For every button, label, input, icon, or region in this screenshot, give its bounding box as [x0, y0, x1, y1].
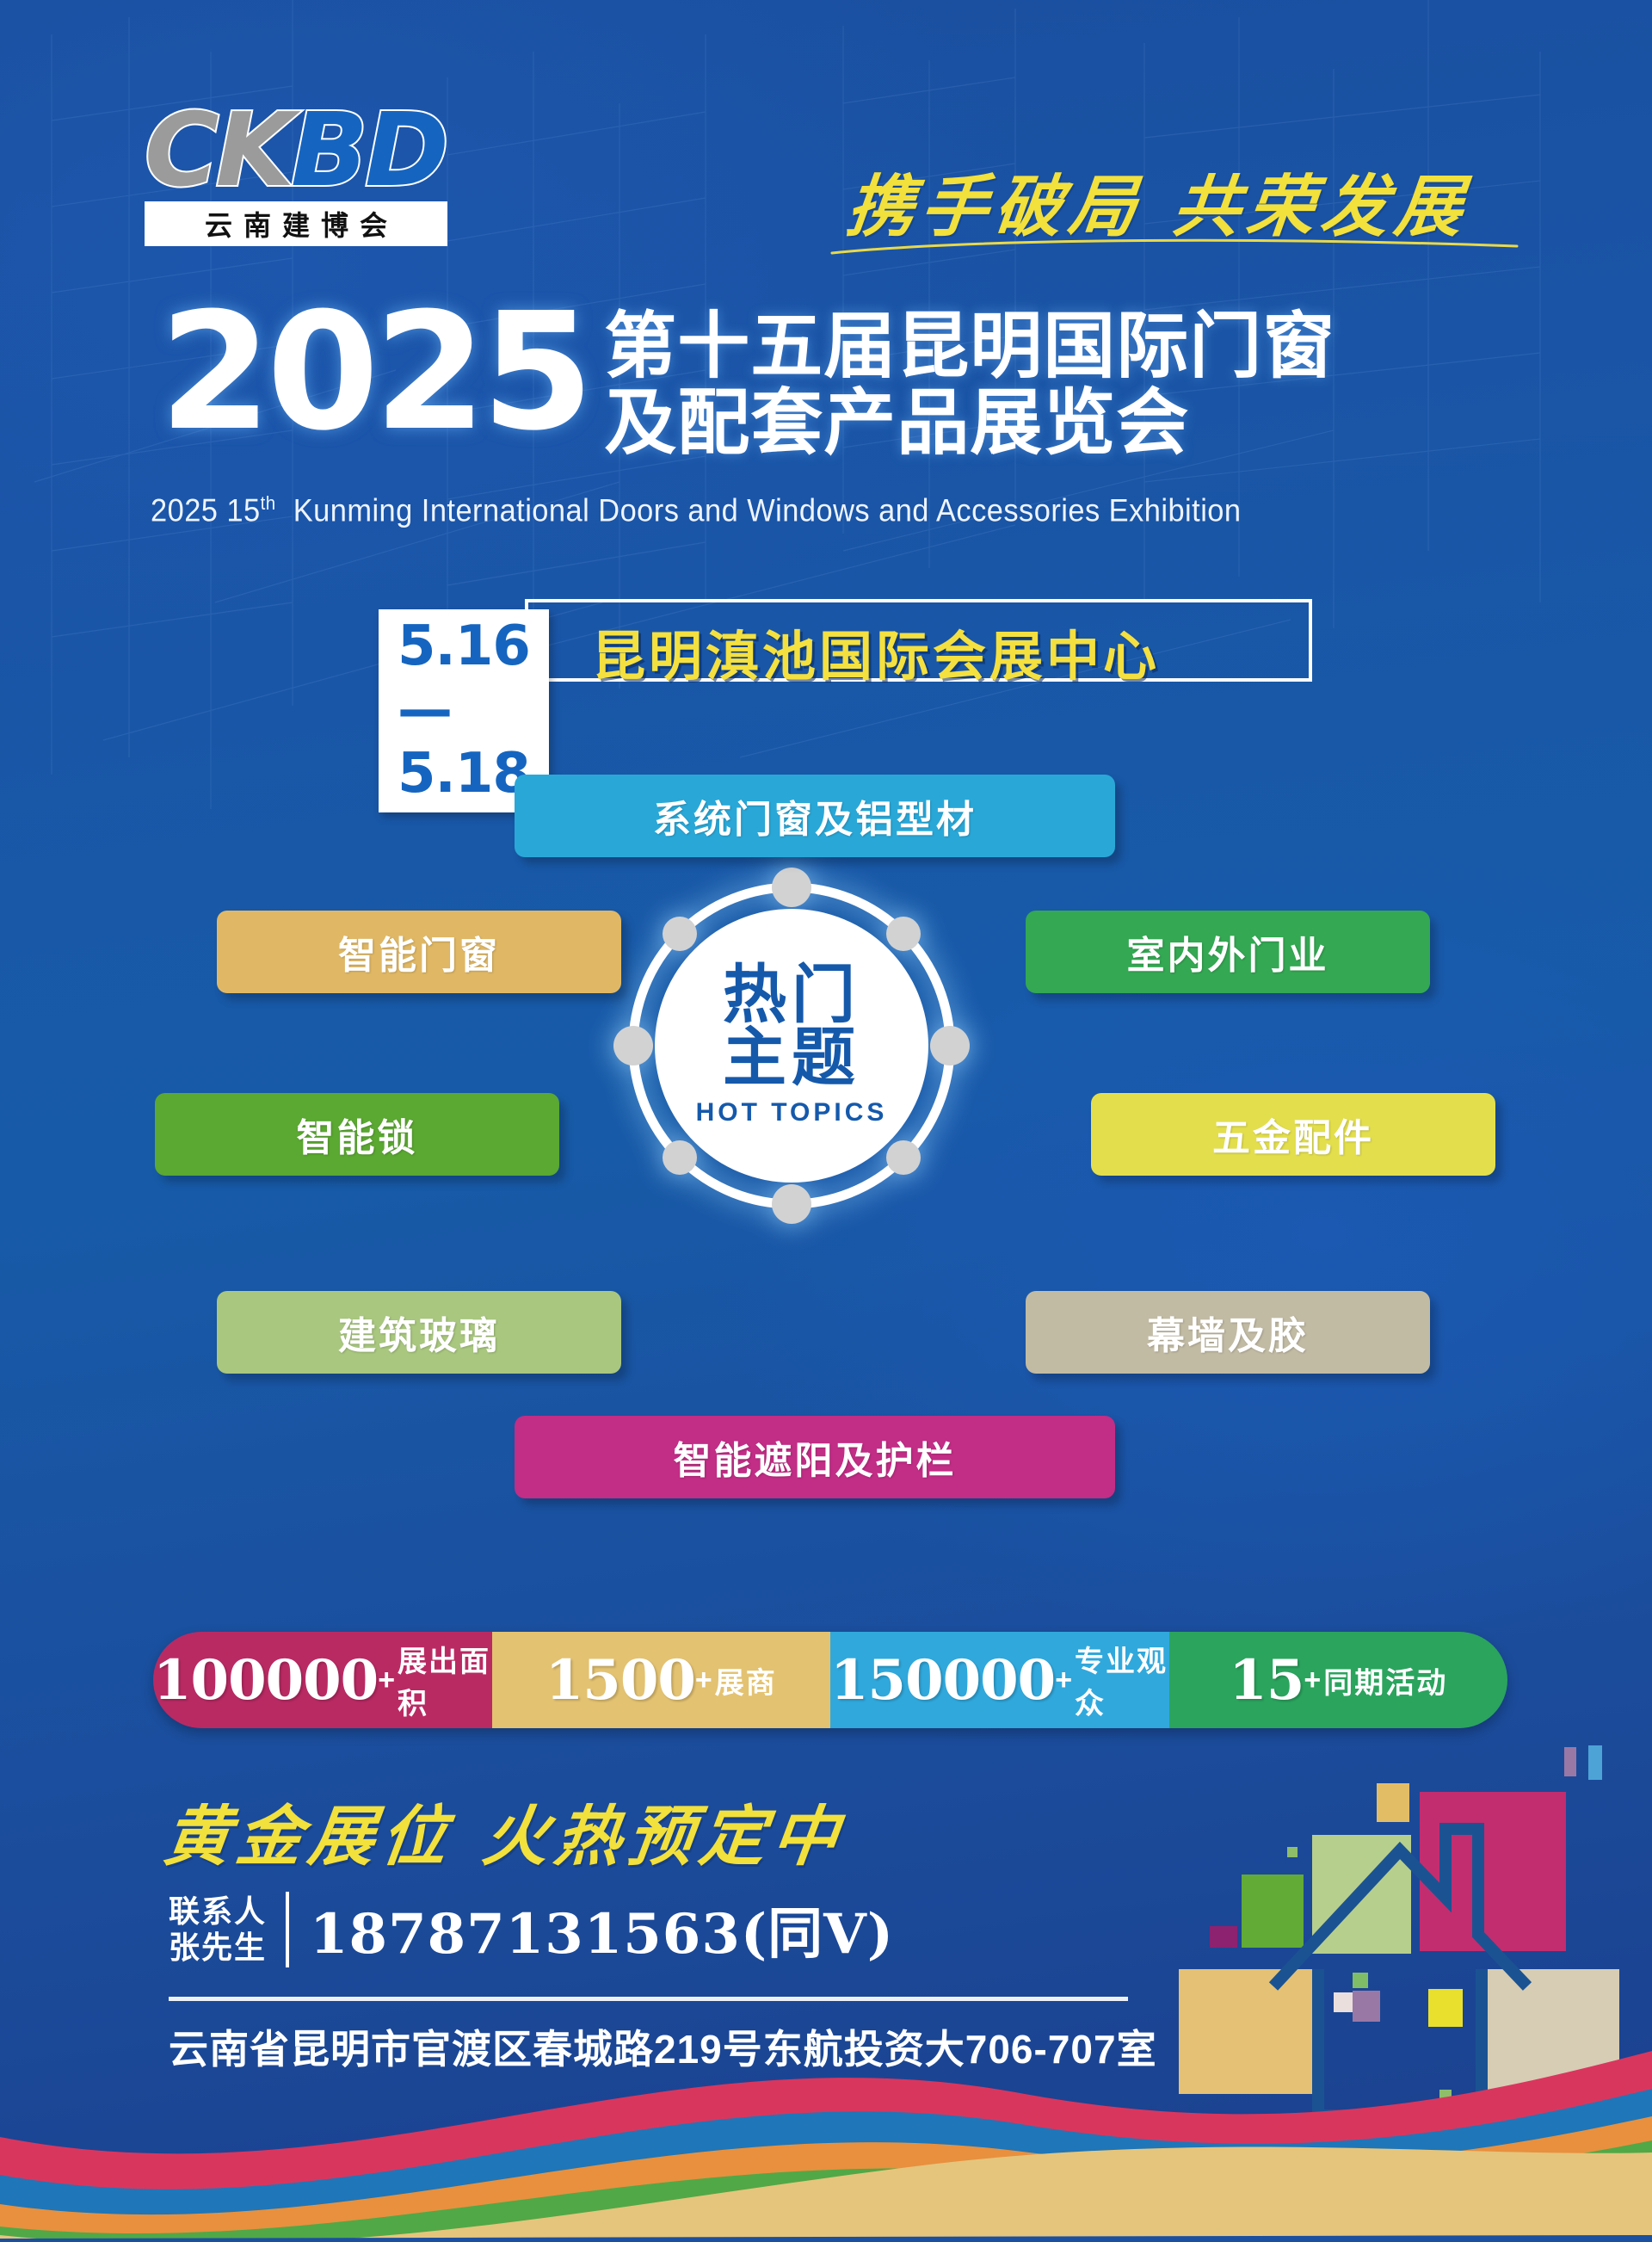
topic-pill-smart-shading-railings[interactable]: 智能遮阳及护栏: [515, 1416, 1115, 1498]
stat-label: 同期活动: [1323, 1659, 1447, 1702]
stat-label: 专业观众: [1075, 1638, 1168, 1722]
title-english: 2025 15th Kunming International Doors an…: [151, 492, 1242, 528]
title-en-rest: Kunming International Doors and Windows …: [293, 492, 1242, 528]
logo-ck-text: CK: [145, 90, 291, 209]
poster-canvas: CKBD 云南建博会 携手破局 共荣发展 2025 第十五届昆明国际门窗 及配套…: [0, 0, 1652, 2242]
stat-number: 1500: [546, 1648, 695, 1713]
stat-label: 展商: [715, 1659, 777, 1702]
stat-number: 100000: [153, 1648, 378, 1713]
title-en-ordinal: th: [261, 492, 276, 514]
contact-label-line2: 张先生: [169, 1930, 267, 1966]
title-en-prefix: 2025 15: [151, 492, 261, 528]
year-text: 2025: [159, 303, 589, 442]
stat-item: 150000+专业观众: [830, 1632, 1169, 1728]
stat-item: 15+同期活动: [1169, 1632, 1508, 1728]
stat-number: 15: [1229, 1648, 1304, 1713]
topic-pill-indoor-outdoor-doors[interactable]: 室内外门业: [1026, 911, 1430, 993]
tagline-swoosh: [830, 236, 1519, 258]
contact-label: 联系人 张先生: [169, 1893, 267, 1967]
topic-pill-architectural-glass[interactable]: 建筑玻璃: [217, 1291, 621, 1374]
ring-cn-line1: 热门: [723, 964, 860, 1027]
tagline-block: 携手破局 共荣发展: [848, 153, 1519, 250]
stat-item: 100000+展出面积: [153, 1632, 492, 1728]
wave-graphic: [0, 2044, 1652, 2242]
title-chinese: 第十五届昆明国际门窗 及配套产品展览会: [604, 308, 1335, 461]
hot-topics-section: 热门 主题 HOT TOPICS 系统门窗及铝型材 智能门窗 室内外门业 智能锁…: [0, 775, 1652, 1532]
topic-pill-curtain-wall-adhesive[interactable]: 幕墙及胶: [1026, 1291, 1430, 1374]
contact-phone[interactable]: 18787131563(同V): [310, 1890, 894, 1969]
stat-plus: +: [1055, 1664, 1072, 1697]
ring-cn-line2: 主题: [723, 1027, 860, 1090]
bottom-wave-decoration: [0, 2044, 1652, 2242]
stat-plus: +: [1304, 1664, 1321, 1697]
stat-number: 150000: [830, 1648, 1055, 1713]
contact-block: 联系人 张先生 18787131563(同V): [169, 1890, 894, 1969]
stat-item: 1500+展商: [492, 1632, 831, 1728]
topic-pill-hardware-accessories[interactable]: 五金配件: [1091, 1093, 1495, 1176]
venue-text: 昆明滇池国际会展中心: [592, 613, 1160, 690]
brand-logo: CKBD 云南建博会: [145, 103, 506, 246]
stat-label: 展出面积: [398, 1638, 491, 1722]
main-title: 2025 第十五届昆明国际门窗 及配套产品展览会: [159, 303, 1335, 461]
hot-topics-ring: 热门 主题 HOT TOPICS: [611, 865, 972, 1226]
title-line-1: 第十五届昆明国际门窗: [604, 308, 1335, 385]
topic-pill-smart-locks[interactable]: 智能锁: [155, 1093, 559, 1176]
topic-pill-smart-windows[interactable]: 智能门窗: [217, 911, 621, 993]
stat-plus: +: [378, 1664, 395, 1697]
topic-pill-system-windows[interactable]: 系统门窗及铝型材: [515, 775, 1115, 857]
footer-rule: [169, 1997, 1128, 2001]
contact-divider: [286, 1892, 289, 1967]
stat-plus: +: [695, 1664, 712, 1697]
booth-slogan: 黄金展位 火热预定中: [159, 1783, 851, 1878]
ring-center-label: 热门 主题 HOT TOPICS: [655, 909, 928, 1183]
ring-en-label: HOT TOPICS: [696, 1098, 888, 1127]
logo-bd-text: BD: [291, 90, 446, 209]
contact-label-line1: 联系人: [169, 1893, 267, 1930]
title-line-2: 及配套产品展览会: [604, 385, 1335, 461]
logo-wordmark: CKBD: [145, 103, 506, 198]
stats-bar: 100000+展出面积 1500+展商 150000+专业观众 15+同期活动: [153, 1632, 1507, 1728]
